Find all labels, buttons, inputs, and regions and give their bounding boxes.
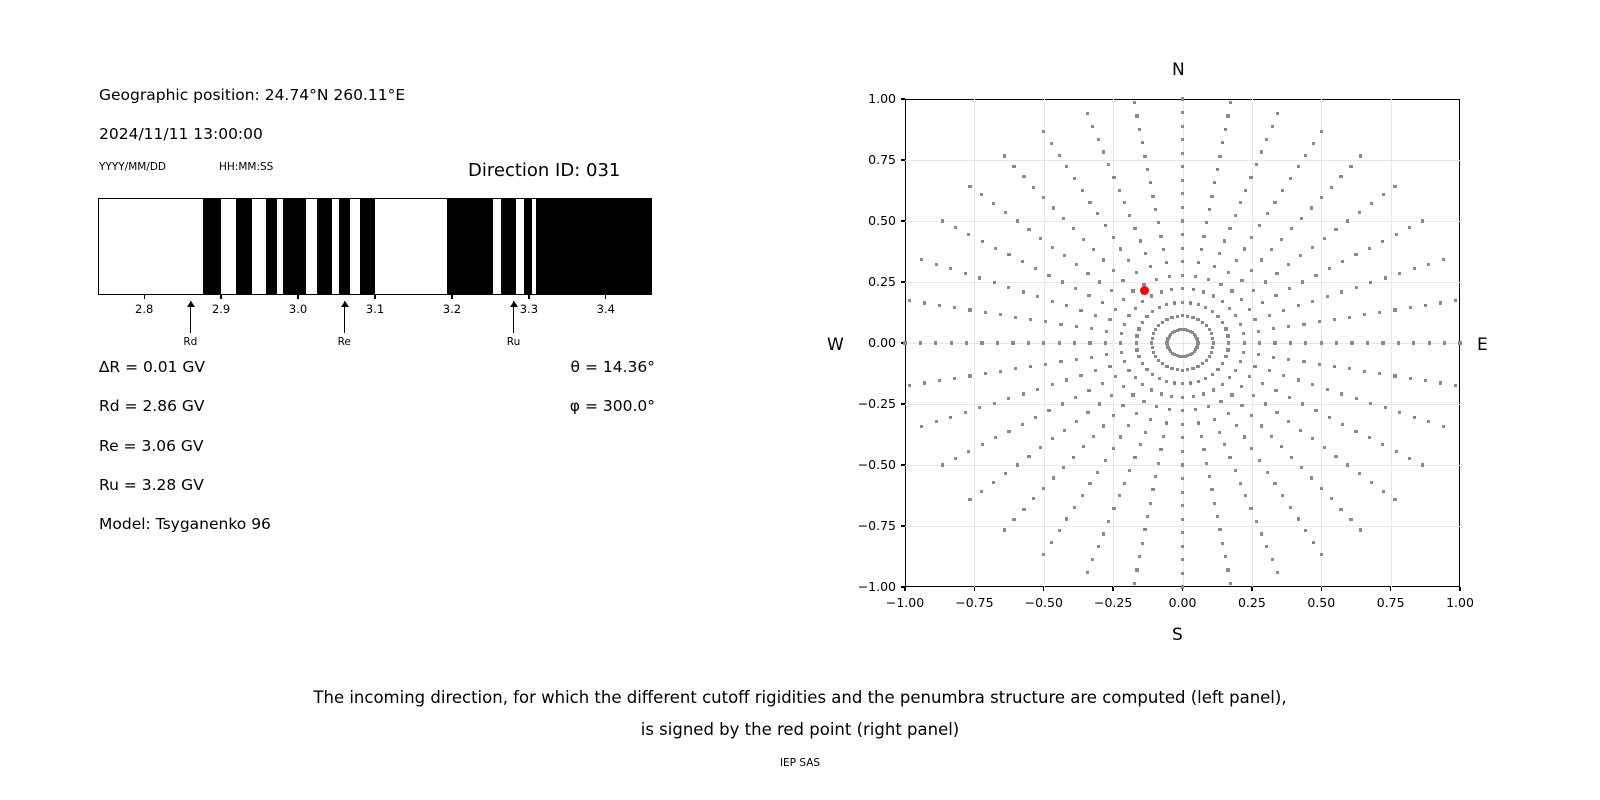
direction-point [994, 247, 997, 250]
gridline-horizontal [905, 526, 1460, 527]
direction-point [1240, 385, 1243, 388]
direction-point [1181, 165, 1184, 168]
direction-point [1157, 462, 1160, 465]
direction-point [1165, 261, 1168, 264]
direction-point [1007, 253, 1010, 256]
y-axis-tick [901, 586, 905, 587]
direction-point [1096, 212, 1099, 215]
x-axis-tick [1251, 587, 1252, 591]
direction-point [1208, 208, 1211, 211]
direction-point [1205, 359, 1208, 362]
direction-point [1424, 304, 1427, 307]
direction-point [1181, 369, 1184, 372]
direction-point [1027, 341, 1030, 344]
direction-point [1133, 227, 1136, 230]
direction-point [1158, 377, 1161, 380]
direction-point [1062, 466, 1065, 469]
penumbra-tick [528, 295, 529, 299]
direction-point [954, 226, 957, 229]
x-axis-tick-label: 0.75 [1359, 595, 1423, 610]
direction-point [1207, 405, 1210, 408]
direction-point [1228, 307, 1231, 310]
direction-point [1398, 411, 1401, 414]
direction-point [1409, 306, 1412, 309]
direction-point [1218, 431, 1221, 434]
penumbra-tick [451, 295, 452, 299]
direction-point [1104, 224, 1107, 227]
direction-point [1133, 456, 1136, 459]
direction-point [1034, 267, 1037, 270]
x-axis-tick-label: 1.00 [1428, 595, 1492, 610]
direction-point [1320, 130, 1323, 133]
direction-point [1275, 411, 1278, 414]
direction-point [1098, 280, 1101, 283]
direction-point [1152, 332, 1155, 335]
direction-point [1073, 506, 1076, 509]
direction-point [1120, 332, 1123, 335]
direction-point [1318, 320, 1321, 323]
penumbra-tick-label: 3.2 [432, 302, 472, 316]
direction-point [1097, 138, 1100, 141]
compass-west-label: W [827, 335, 844, 355]
direction-point [1181, 233, 1184, 236]
direction-point [1227, 341, 1230, 344]
direction-point [1021, 260, 1024, 263]
direction-point [1395, 233, 1398, 236]
direction-point [1442, 425, 1445, 428]
direction-point [1110, 394, 1113, 397]
direction-point [1366, 341, 1369, 344]
direction-point [999, 370, 1002, 373]
direction-point [1151, 310, 1154, 313]
direction-point [908, 299, 911, 302]
direction-point [1218, 252, 1221, 255]
direction-point [967, 450, 970, 453]
direction-point [1086, 272, 1089, 275]
direction-point [1022, 392, 1025, 395]
direction-point [1369, 402, 1372, 405]
direction-point [1181, 125, 1184, 128]
direction-point [1021, 423, 1024, 426]
direction-point [1051, 383, 1054, 386]
direction-point [1102, 532, 1105, 535]
direction-point [1088, 201, 1091, 204]
direction-point [1412, 341, 1415, 344]
direction-point [953, 306, 956, 309]
direction-point [1334, 228, 1337, 231]
direction-point [1143, 155, 1146, 158]
direction-point [1090, 356, 1093, 359]
direction-point [1368, 436, 1371, 439]
direction-point [1123, 201, 1126, 204]
direction-point [1242, 332, 1245, 335]
direction-point [1042, 130, 1045, 133]
direction-point [1252, 394, 1255, 397]
direction-point [1168, 275, 1171, 278]
direction-point [1007, 286, 1010, 289]
penumbra-tick-label: 2.9 [201, 302, 241, 316]
direction-point [1274, 294, 1277, 297]
direction-point [1189, 381, 1192, 384]
direction-point [1443, 341, 1446, 344]
direction-point [1036, 388, 1039, 391]
x-axis-tick-label: −0.50 [1012, 595, 1076, 610]
direction-point [1311, 383, 1314, 386]
date-format-label: YYYY/MM/DD [99, 161, 166, 173]
direction-point [1257, 330, 1260, 333]
x-axis-tick [1043, 587, 1044, 591]
direction-point [1326, 295, 1329, 298]
direction-point [992, 481, 995, 484]
direction-point [1102, 258, 1105, 261]
direction-point [1248, 308, 1251, 311]
direction-point [1181, 558, 1184, 561]
direction-point [1288, 396, 1291, 399]
direction-point [1382, 490, 1385, 493]
direction-point [1058, 154, 1061, 157]
direction-point [1196, 365, 1199, 368]
direction-point [903, 341, 906, 344]
direction-point [1022, 508, 1025, 511]
direction-point [1207, 278, 1210, 281]
penumbra-band [360, 199, 375, 294]
direction-point [1151, 346, 1154, 349]
direction-point [1086, 571, 1089, 574]
direction-point [1378, 372, 1381, 375]
penumbra-tick [374, 295, 375, 299]
x-axis-tick-label: 0.50 [1289, 595, 1353, 610]
direction-point [1138, 555, 1141, 558]
direction-point [1243, 341, 1246, 344]
direction-point [1201, 321, 1204, 324]
direction-point [1205, 462, 1208, 465]
direction-point [1221, 362, 1224, 365]
direction-point [1181, 585, 1184, 588]
penumbra-tick-label: 3.1 [355, 302, 395, 316]
direction-point [1081, 494, 1084, 497]
direction-point [1194, 275, 1197, 278]
direction-point [1200, 248, 1203, 251]
direction-point [968, 308, 971, 311]
direction-point [1022, 290, 1025, 293]
direction-point [1122, 298, 1125, 301]
direction-point [1186, 368, 1189, 371]
direction-point [1339, 175, 1342, 178]
y-axis-tick-label: 1.00 [830, 91, 896, 106]
direction-point [1235, 259, 1238, 262]
y-axis-tick-label: −1.00 [830, 579, 896, 594]
direction-point [1370, 202, 1373, 205]
direction-point [1173, 301, 1176, 304]
direction-point [1333, 365, 1336, 368]
direction-point [984, 372, 987, 375]
direction-point [1249, 507, 1252, 510]
direction-point [1221, 300, 1224, 303]
direction-point [1176, 315, 1179, 318]
direction-point [1234, 469, 1237, 472]
direction-point [1359, 154, 1362, 157]
gridline-horizontal [905, 404, 1460, 405]
direction-point [919, 341, 922, 344]
direction-point [1119, 341, 1122, 344]
direction-point [1047, 409, 1050, 412]
direction-point [1282, 309, 1285, 312]
direction-point [1276, 112, 1279, 115]
direction-point [1162, 248, 1165, 251]
direction-point [1276, 571, 1279, 574]
penumbra-tick-label: 3.0 [278, 302, 318, 316]
direction-point [941, 463, 944, 466]
y-axis-tick-label: −0.25 [830, 396, 896, 411]
direction-point [1244, 494, 1247, 497]
direction-point [1226, 334, 1229, 337]
direction-point [1181, 274, 1184, 277]
direction-point [1039, 446, 1042, 449]
direction-point [1141, 321, 1144, 324]
direction-point [1382, 193, 1385, 196]
direction-point [1082, 445, 1085, 448]
direction-point [1141, 542, 1144, 545]
y-axis-tick [901, 403, 905, 404]
direction-point [993, 281, 996, 284]
direction-point [1029, 365, 1032, 368]
direction-point [1323, 446, 1326, 449]
direction-point [1221, 141, 1224, 144]
direction-point [1118, 494, 1121, 497]
direction-point [1221, 383, 1224, 386]
direction-point [1421, 219, 1424, 222]
direction-point [1328, 267, 1331, 270]
y-axis-tick [901, 464, 905, 465]
direction-point [1213, 265, 1216, 268]
direction-point [1022, 175, 1025, 178]
penumbra-tick [144, 295, 145, 299]
direction-point [1202, 235, 1205, 238]
direction-point [1181, 409, 1184, 412]
direction-point [1265, 138, 1268, 141]
direction-point [1408, 457, 1411, 460]
direction-point [1268, 369, 1271, 372]
direction-point [1104, 341, 1107, 344]
direction-point [1301, 402, 1304, 405]
direction-point [1042, 341, 1045, 344]
penumbra-band [283, 199, 306, 294]
direction-point [1014, 316, 1017, 319]
direction-point [1255, 520, 1258, 523]
direction-point [1333, 318, 1336, 321]
footer-text: IEP SAS [0, 757, 1600, 769]
direction-point [1112, 447, 1115, 450]
direction-point [1243, 435, 1246, 438]
direction-point [1287, 420, 1290, 423]
penumbra-band [339, 199, 350, 294]
direction-point [1427, 263, 1430, 266]
direction-point [1297, 304, 1300, 307]
direction-point [1204, 306, 1207, 309]
direction-point [1094, 369, 1097, 372]
direction-point [1081, 189, 1084, 192]
direction-point [1265, 545, 1268, 548]
penumbra-band [203, 199, 221, 294]
direction-point [1428, 341, 1431, 344]
direction-point [1304, 341, 1307, 344]
direction-point [1280, 445, 1283, 448]
direction-point [1197, 303, 1200, 306]
direction-point [1178, 328, 1181, 331]
direction-point [1170, 367, 1173, 370]
direction-point [1131, 393, 1134, 396]
direction-point [1281, 189, 1284, 192]
direction-point [938, 379, 941, 382]
direction-point [1258, 341, 1261, 344]
direction-point [984, 311, 987, 314]
direction-point [1297, 517, 1300, 520]
direction-point [1297, 165, 1300, 168]
direction-point [1216, 168, 1219, 171]
direction-point [1135, 271, 1138, 274]
y-axis-tick-label: 0.75 [830, 152, 896, 167]
direction-point [1075, 358, 1078, 361]
direction-point [1107, 520, 1110, 523]
direction-point [1149, 265, 1152, 268]
direction-point [1221, 321, 1224, 324]
direction-point [1075, 325, 1078, 328]
direction-point [1224, 327, 1227, 330]
direction-point [1211, 337, 1214, 340]
direction-point [980, 341, 983, 344]
parameter-row: Model: Tsyganenko 96 [99, 515, 271, 533]
direction-point [1234, 369, 1237, 372]
direction-point [1061, 280, 1064, 283]
y-axis-tick [901, 98, 905, 99]
direction-point [1151, 373, 1154, 376]
direction-point [1413, 267, 1416, 270]
direction-point [1092, 435, 1095, 438]
x-axis-tick [1390, 587, 1391, 591]
direction-point [1211, 310, 1214, 313]
direction-point [1108, 365, 1111, 368]
direction-point [1094, 314, 1097, 317]
direction-point [1310, 476, 1313, 479]
direction-point [1141, 141, 1144, 144]
direction-point [1157, 324, 1160, 327]
direction-point [1302, 360, 1305, 363]
direction-point [1264, 402, 1267, 405]
direction-point [1202, 290, 1205, 293]
direction-point [1032, 497, 1035, 500]
direction-point [1186, 315, 1189, 318]
direction-point [981, 443, 984, 446]
direction-point [1016, 463, 1019, 466]
direction-point [1142, 400, 1145, 403]
direction-point [1088, 482, 1091, 485]
direction-point [1384, 276, 1387, 279]
direction-point [1161, 362, 1164, 365]
direction-point [1165, 365, 1168, 368]
direction-point [1091, 125, 1094, 128]
direction-point [1197, 380, 1200, 383]
direction-point [1201, 362, 1204, 365]
cutoff-marker-label: Rd [170, 336, 210, 348]
direction-point [1442, 258, 1445, 261]
direction-point [1003, 154, 1006, 157]
direction-point [1047, 274, 1050, 277]
direction-point [980, 193, 983, 196]
direction-point [1218, 155, 1221, 158]
direction-point [1058, 341, 1061, 344]
direction-point [1181, 504, 1184, 507]
direction-point [1181, 314, 1184, 317]
direction-point [993, 402, 996, 405]
direction-point [1368, 247, 1371, 250]
direction-point [1287, 358, 1290, 361]
direction-point [1181, 206, 1184, 209]
direction-point [1323, 237, 1326, 240]
direction-point [1101, 301, 1104, 304]
direction-point [1273, 201, 1276, 204]
direction-point [1227, 412, 1230, 415]
direction-point [1205, 221, 1208, 224]
direction-point [1105, 330, 1108, 333]
direction-point [1228, 456, 1231, 459]
direction-point [1051, 246, 1054, 249]
direction-point [1216, 315, 1219, 318]
direction-point [1287, 263, 1290, 266]
direction-point [1155, 405, 1158, 408]
direction-point [1348, 316, 1351, 319]
direction-point [1454, 384, 1457, 387]
direction-point [1181, 423, 1184, 426]
direction-point [1320, 553, 1323, 556]
direction-point [978, 406, 981, 409]
direction-point [1261, 301, 1264, 304]
direction-point [1039, 237, 1042, 240]
direction-point [1191, 316, 1194, 319]
direction-point [1123, 360, 1126, 363]
direction-point [1355, 397, 1358, 400]
direction-point [1192, 395, 1195, 398]
direction-point [1165, 380, 1168, 383]
direction-point [1202, 392, 1205, 395]
penumbra-tick-label: 3.4 [586, 302, 626, 316]
direction-point [1239, 360, 1242, 363]
direction-point [1112, 269, 1115, 272]
direction-point [1239, 201, 1242, 204]
direction-point [1181, 463, 1184, 466]
direction-point [1149, 181, 1152, 184]
direction-point [1133, 101, 1136, 104]
direction-point [1097, 545, 1100, 548]
direction-point [1213, 418, 1216, 421]
direction-point [1258, 224, 1261, 227]
direction-point [1226, 114, 1229, 117]
direction-point [1059, 360, 1062, 363]
direction-point [1032, 186, 1035, 189]
direction-point [1150, 341, 1153, 344]
direction-point [965, 341, 968, 344]
direction-id-label: Direction ID: 031 [468, 160, 620, 181]
direction-point [1370, 481, 1373, 484]
direction-point [1065, 517, 1068, 520]
direction-point [1439, 381, 1442, 384]
direction-point [1112, 176, 1115, 179]
direction-point [1181, 260, 1184, 263]
direction-point [920, 425, 923, 428]
direction-point [1266, 212, 1269, 215]
direction-point [1007, 397, 1010, 400]
direction-point [1250, 447, 1253, 450]
direction-point [1318, 363, 1321, 366]
